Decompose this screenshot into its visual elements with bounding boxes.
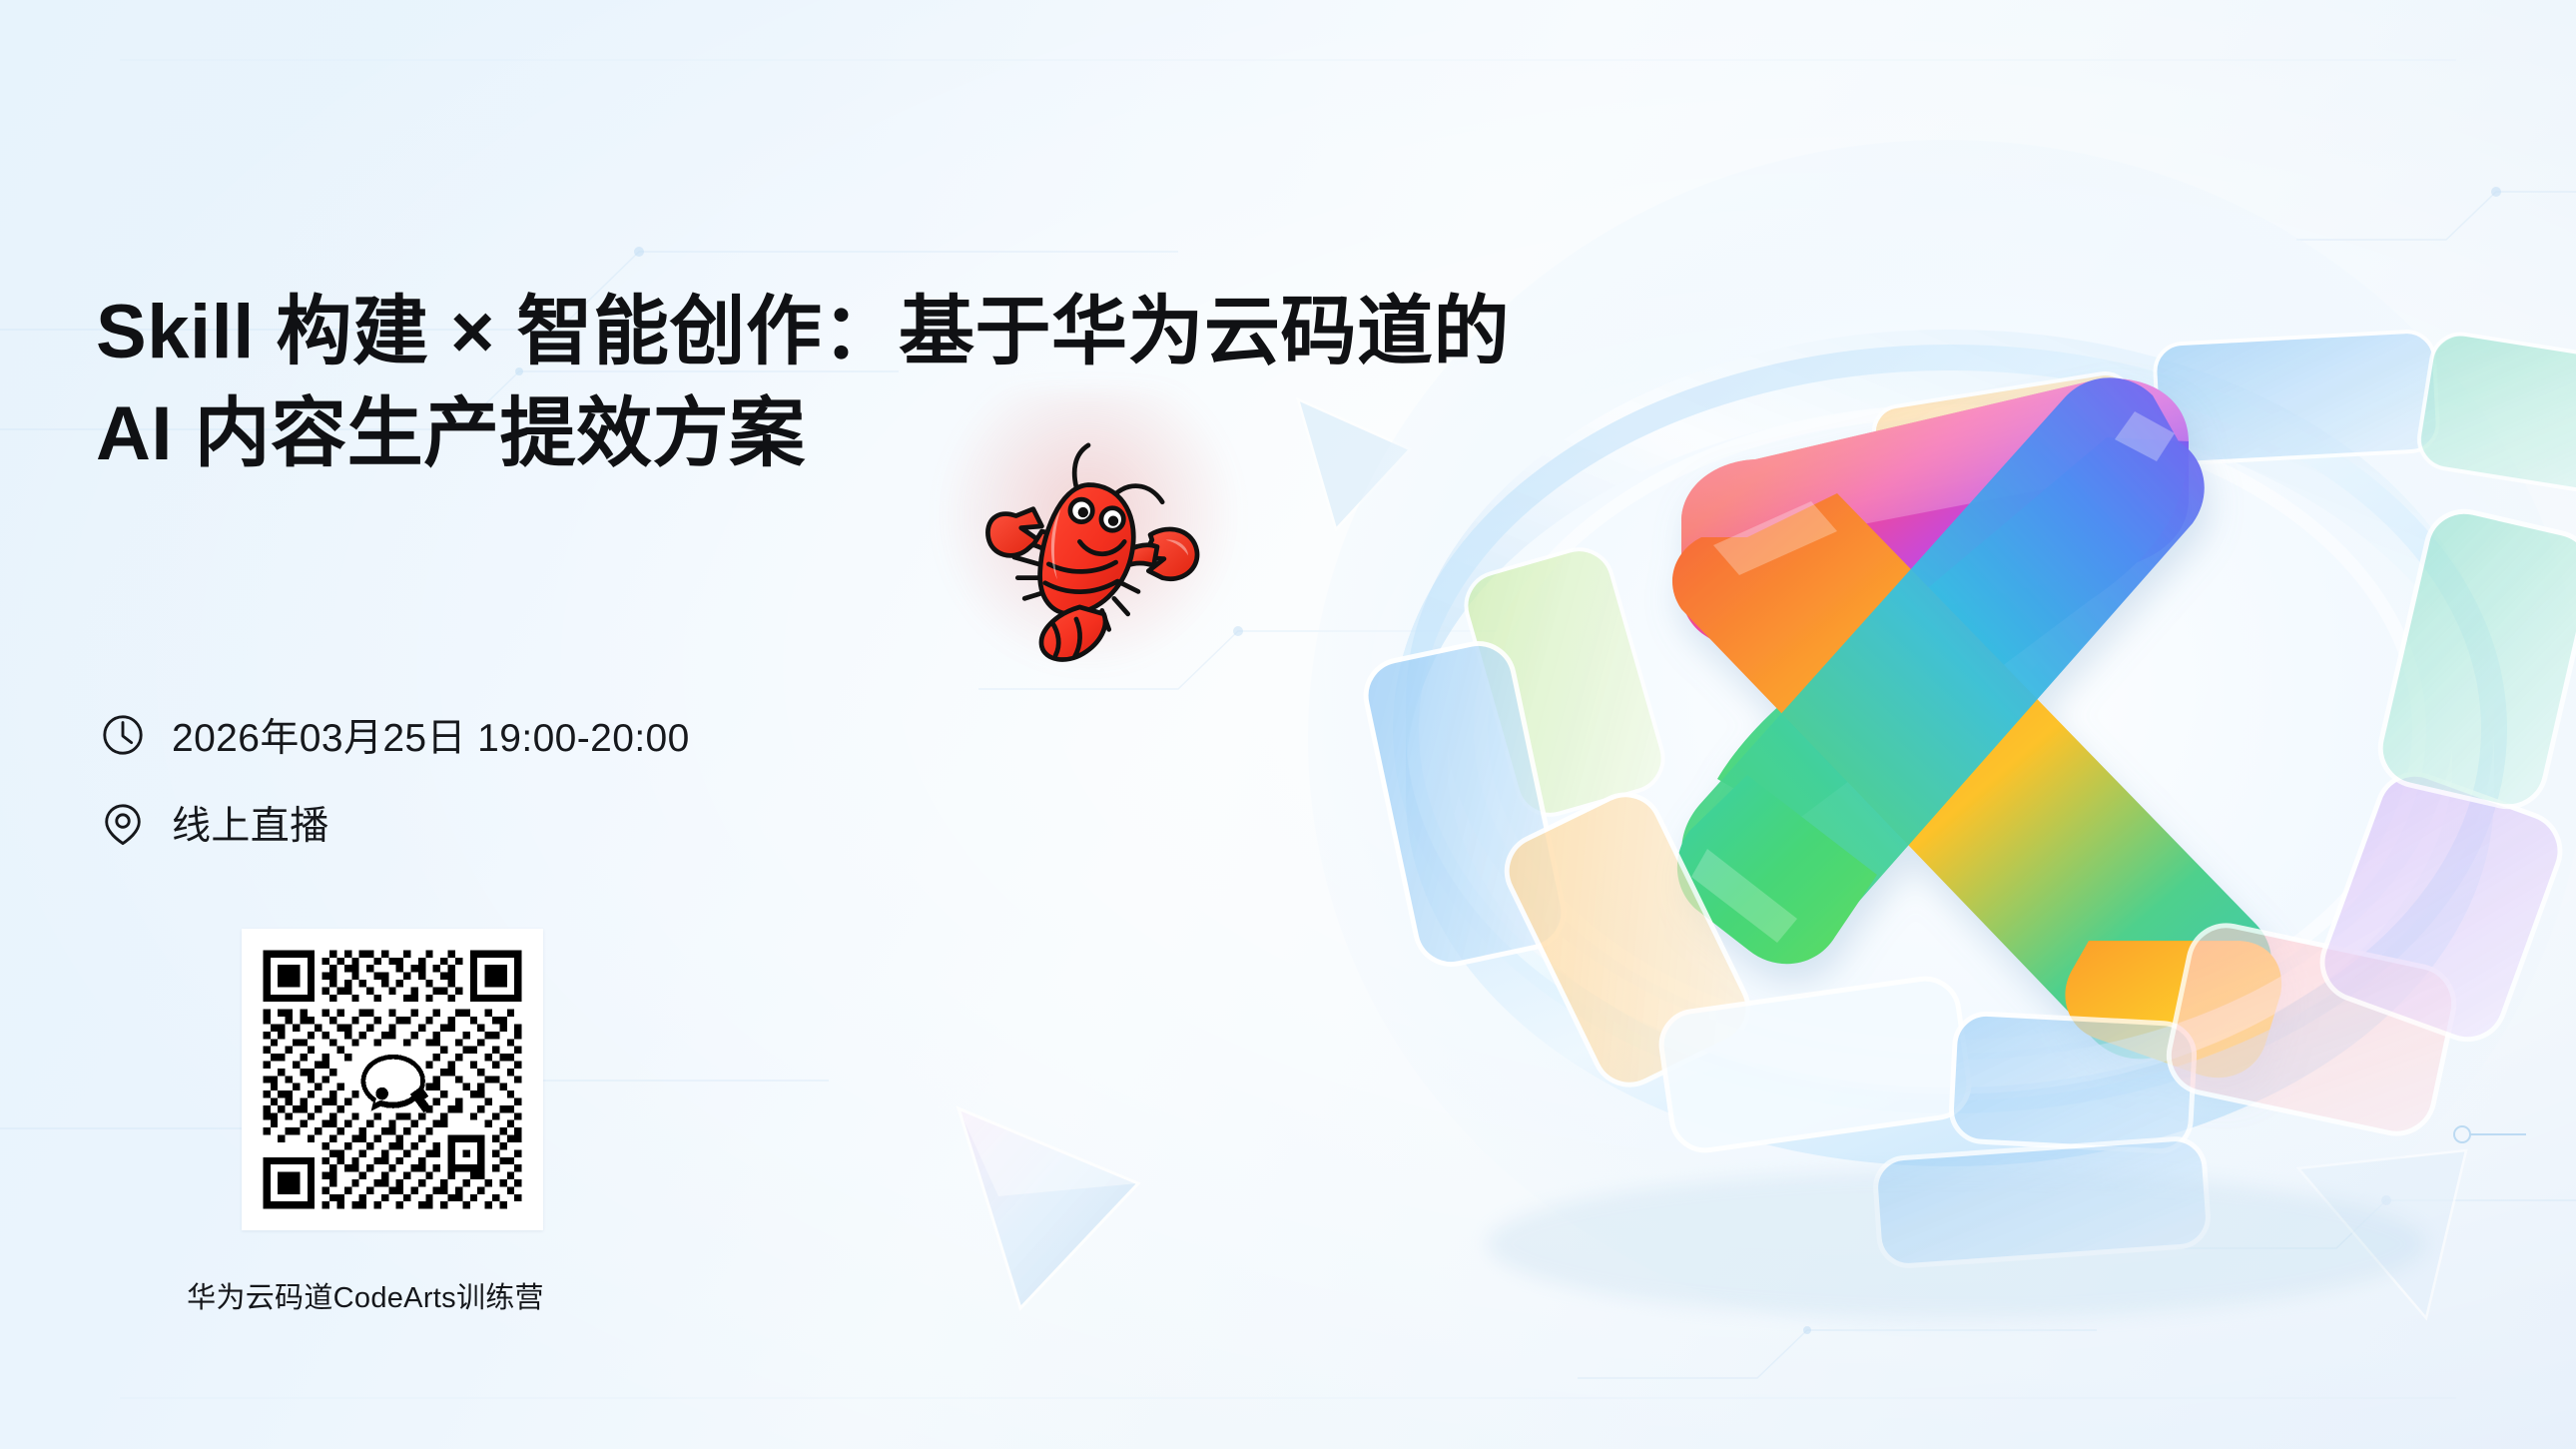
lobster-sticker: [959, 419, 1218, 669]
event-meta: 2026年03月25日 19:00-20:00 线上直播: [100, 707, 690, 851]
title-line-1: Skill 构建 × 智能创作：基于华为云码道的: [96, 282, 1274, 383]
qr-code-matrix: [256, 943, 529, 1216]
event-datetime-text: 2026年03月25日 19:00-20:00: [172, 707, 690, 763]
clock-icon: [100, 712, 146, 758]
event-location-text: 线上直播: [172, 795, 329, 851]
banner-root: Skill 构建 × 智能创作：基于华为云码道的 AI 内容生产提效方案 202…: [0, 0, 2576, 1449]
qr-code[interactable]: [242, 929, 543, 1230]
event-datetime-row: 2026年03月25日 19:00-20:00: [100, 707, 690, 763]
qr-block: 华为云码道CodeArts训练营: [242, 929, 545, 1316]
event-location-row: 线上直播: [100, 795, 690, 851]
qr-caption: 华为云码道CodeArts训练营: [186, 1274, 545, 1316]
location-pin-icon: [100, 800, 146, 846]
left-content-column: Skill 构建 × 智能创作：基于华为云码道的 AI 内容生产提效方案 202…: [96, 0, 1254, 1449]
